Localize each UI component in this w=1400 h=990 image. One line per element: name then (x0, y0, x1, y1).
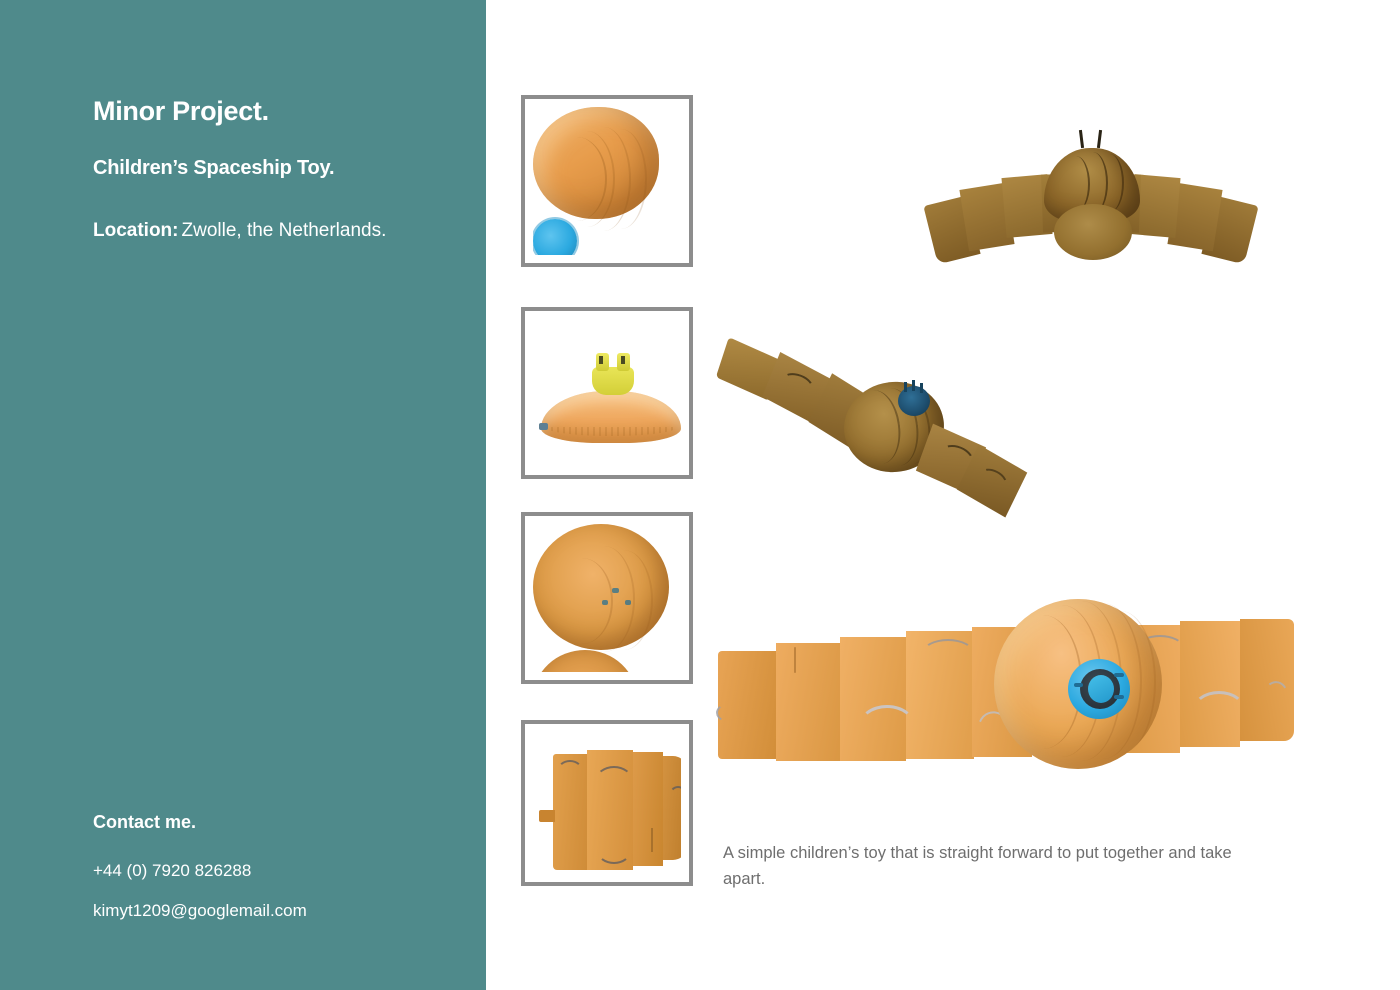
contact-email: kimyt1209@googlemail.com (93, 901, 307, 921)
sidebar-panel: Minor Project. Children’s Spaceship Toy.… (0, 0, 486, 990)
render-front-view (926, 128, 1256, 308)
render-three-quarter-view (716, 330, 1036, 530)
location-value: Zwolle, the Netherlands. (182, 220, 387, 241)
render-large-assembled (716, 595, 1296, 815)
contact-phone: +44 (0) 7920 826288 (93, 861, 251, 881)
project-subtitle: Children’s Spaceship Toy. (93, 157, 334, 180)
location-row: Location:Zwolle, the Netherlands. (93, 220, 386, 242)
render-caption: A simple children’s toy that is straight… (723, 841, 1268, 892)
page-title: Minor Project. (93, 96, 269, 127)
contact-heading: Contact me. (93, 812, 196, 833)
location-label: Location: (93, 220, 179, 241)
